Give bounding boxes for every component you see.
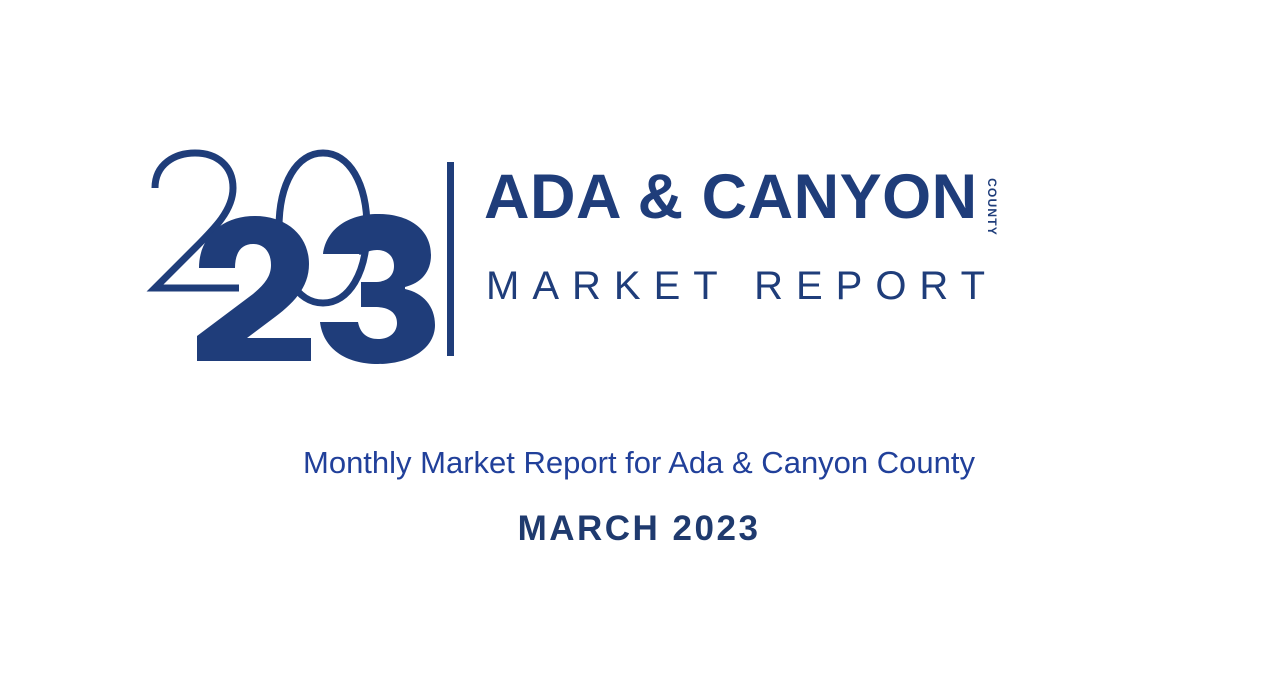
brand-superscript-county: COUNTY [984, 172, 1000, 242]
brand-name: ADA & CANYON [484, 166, 978, 229]
vertical-divider [447, 162, 454, 356]
brand-superscript-label: COUNTY [986, 178, 998, 236]
brand-name-line: ADA & CANYON COUNTY [484, 166, 994, 236]
report-cover-page: ADA & CANYON COUNTY MARKET REPORT Monthl… [0, 0, 1278, 674]
cover-subtitle: Monthly Market Report for Ada & Canyon C… [0, 446, 1278, 480]
year-2023-logomark [147, 148, 437, 363]
cover-date: MARCH 2023 [0, 510, 1278, 549]
brand-wordmark: ADA & CANYON COUNTY MARKET REPORT [484, 148, 1139, 363]
logo-inner: ADA & CANYON COUNTY MARKET REPORT [139, 148, 1139, 368]
logo-lockup: ADA & CANYON COUNTY MARKET REPORT [0, 148, 1278, 368]
brand-subline: MARKET REPORT [486, 266, 998, 306]
